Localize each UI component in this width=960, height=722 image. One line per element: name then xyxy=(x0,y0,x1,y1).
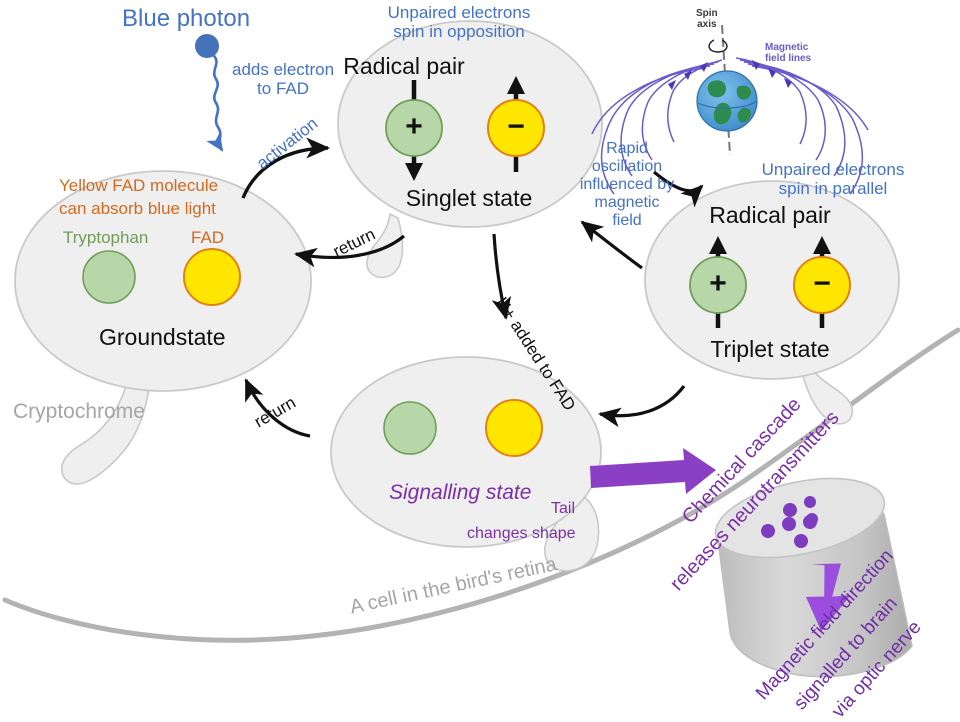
neurotransmitter-dot xyxy=(804,496,816,508)
diagram-canvas: Blue photon adds electron to FAD activat… xyxy=(0,0,960,720)
signalling-state-label: Signalling state xyxy=(389,481,531,505)
groundstate-fad-circle xyxy=(184,249,240,305)
triplet-state-label: Triplet state xyxy=(710,337,829,363)
yellow-fad-line2-label: can absorb blue light xyxy=(59,199,216,218)
neurotransmitter-dot xyxy=(761,524,775,538)
triplet-positive-sign: + xyxy=(709,267,727,301)
neurotransmitter-dot xyxy=(782,517,796,531)
chemical-cascade-arrow xyxy=(590,448,716,494)
spin-axis-label: Spin axis xyxy=(696,8,718,30)
magnetic-field-lines-label: Magnetic field lines xyxy=(765,42,811,64)
cryptochrome-label: Cryptochrome xyxy=(13,400,145,424)
blue-photon-dot xyxy=(195,34,219,58)
tryptophan-label: Tryptophan xyxy=(63,228,148,247)
radical-pair-singlet-label: Radical pair xyxy=(343,54,464,80)
rapid-oscillation-label: Rapid oscillation influenced by magnetic… xyxy=(580,140,674,230)
radical-pair-triplet-label: Radical pair xyxy=(709,203,830,229)
unpaired-parallel-label: Unpaired electrons spin in parallel xyxy=(762,160,905,198)
neurotransmitter-dot xyxy=(794,534,808,548)
groundstate-label: Groundstate xyxy=(99,325,226,351)
neurotransmitter-dot xyxy=(806,513,818,525)
groundstate-tryptophan-circle xyxy=(83,251,135,303)
changes-shape-label: changes shape xyxy=(467,525,576,543)
singlet-tail xyxy=(367,214,403,277)
adds-electron-label: adds electron to FAD xyxy=(232,60,334,98)
blue-photon-label: Blue photon xyxy=(122,6,250,33)
tail-label: Tail xyxy=(551,500,575,518)
neurotransmitter-dot xyxy=(783,503,797,517)
photon-squiggle-arrow xyxy=(213,55,222,150)
triplet-to-signalling-arrow xyxy=(600,386,684,416)
signalling-tryptophan-circle xyxy=(384,402,436,454)
yellow-fad-line1-label: Yellow FAD molecule xyxy=(59,176,218,195)
singlet-positive-sign: + xyxy=(405,110,423,144)
triplet-negative-sign: − xyxy=(813,267,831,301)
singlet-negative-sign: − xyxy=(507,110,525,144)
singlet-state-label: Singlet state xyxy=(406,186,533,212)
fad-label: FAD xyxy=(191,228,224,247)
unpaired-opposition-label: Unpaired electrons spin in opposition xyxy=(388,3,531,41)
signalling-fad-circle xyxy=(486,400,542,456)
